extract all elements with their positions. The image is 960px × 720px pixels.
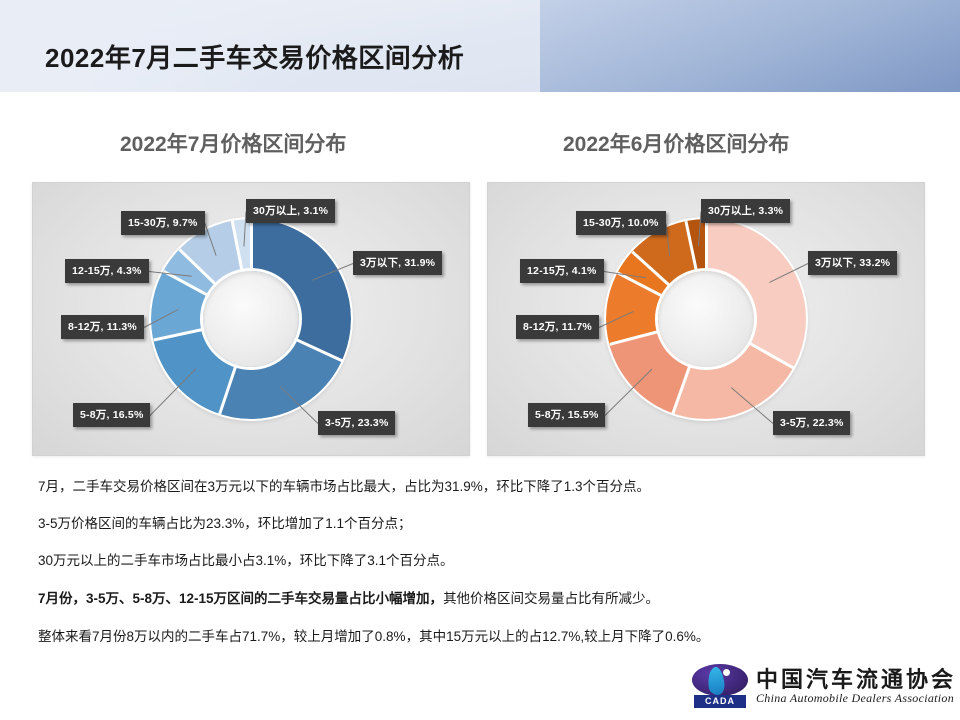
pie-slice-label: 15-30万, 9.7% [121,211,205,235]
analysis-text-block: 整体来看7月份8万以内的二手车占71.7%，较上月增加了0.8%，其中15万元以… [38,628,928,647]
analysis-paragraph: 3-5万价格区间的车辆占比为23.3%，环比增加了1.1个百分点； [38,515,928,534]
pie-slice-label: 12-15万, 4.3% [65,259,149,283]
pie-slice-label: 15-30万, 10.0% [576,211,666,235]
analysis-text-block: 7月份，3-5万、5-8万、12-15万区间的二手车交易量占比小幅增加，其他价格… [38,590,928,609]
chart-panel-june: 3万以下, 33.2%3-5万, 22.3%5-8万, 15.5%8-12万, … [487,182,925,456]
pie-slice-label: 3-5万, 23.3% [318,411,395,435]
cada-logo: CADA 中国汽车流通协会 China Automobile Dealers A… [690,662,940,712]
cada-name-en: China Automobile Dealers Association [756,691,954,706]
page-title: 2022年7月二手车交易价格区间分析 [45,38,464,75]
analysis-text-block: 30万元以上的二手车市场占比最小占3.1%，环比下降了3.1个百分点。 [38,552,928,571]
cada-abbr-label: CADA [694,695,746,708]
pie-slice-label: 8-12万, 11.7% [516,315,599,339]
donut-center-hole [658,271,754,367]
pie-slice-label: 30万以上, 3.3% [701,199,790,223]
page-header: 2022年7月二手车交易价格区间分析 [0,0,960,92]
analysis-paragraph: 整体来看7月份8万以内的二手车占71.7%，较上月增加了0.8%，其中15万元以… [38,628,928,647]
analysis-bold-segment: 7月份，3-5万、5-8万、12-15万区间的二手车交易量占比小幅增加， [38,591,443,606]
chart-heading-june: 2022年6月价格区间分布 [563,128,789,158]
donut-chart-july [151,219,351,419]
donut-chart-june [606,219,806,419]
pie-slice-label: 3-5万, 22.3% [773,411,850,435]
analysis-text-block: 7月，二手车交易价格区间在3万元以下的车辆市场占比最大，占比为31.9%，环比下… [38,478,928,497]
donut-center-hole [203,271,299,367]
analysis-text-block: 3-5万价格区间的车辆占比为23.3%，环比增加了1.1个百分点； [38,515,928,534]
chart-heading-july: 2022年7月价格区间分布 [120,128,346,158]
analysis-normal-segment: 其他价格区间交易量占比有所减少。 [443,591,659,606]
analysis-paragraph: 30万元以上的二手车市场占比最小占3.1%，环比下降了3.1个百分点。 [38,552,928,571]
pie-slice-label: 3万以下, 33.2% [808,251,897,275]
cada-emblem-icon: CADA [690,664,750,708]
analysis-paragraph: 7月，二手车交易价格区间在3万元以下的车辆市场占比最大，占比为31.9%，环比下… [38,478,928,497]
chart-panel-july: 3万以下, 31.9%3-5万, 23.3%5-8万, 16.5%8-12万, … [32,182,470,456]
pie-slice-label: 5-8万, 16.5% [73,403,150,427]
pie-slice-label: 3万以下, 31.9% [353,251,442,275]
header-banner-image [540,0,960,92]
analysis-paragraph-highlight: 7月份，3-5万、5-8万、12-15万区间的二手车交易量占比小幅增加，其他价格… [38,590,928,609]
pie-slice-label: 8-12万, 11.3% [61,315,144,339]
pie-slice-label: 30万以上, 3.1% [246,199,335,223]
cada-name-cn: 中国汽车流通协会 [756,662,956,694]
pie-slice-label: 12-15万, 4.1% [520,259,604,283]
pie-slice-label: 5-8万, 15.5% [528,403,605,427]
